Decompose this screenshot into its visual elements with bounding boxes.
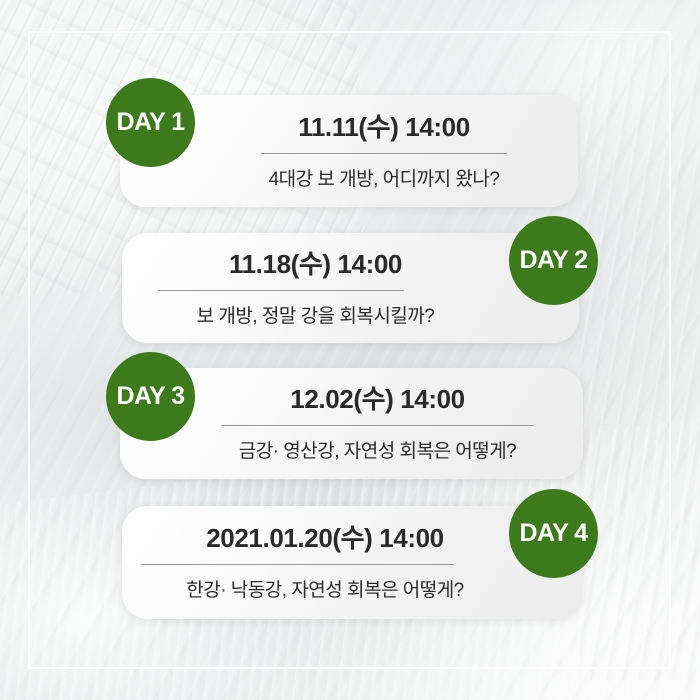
day-badge-label: DAY 2 bbox=[520, 248, 588, 273]
day-badge-1[interactable]: DAY 1 bbox=[106, 78, 195, 167]
day-badge-label: DAY 4 bbox=[520, 521, 588, 546]
session-date: 11.11(수) 14:00 bbox=[298, 114, 470, 140]
session-date: 12.02(수) 14:00 bbox=[290, 386, 464, 412]
poster-canvas: 11.11(수) 14:00 4대강 보 개방, 어디까지 왔나? DAY 1 … bbox=[0, 0, 700, 700]
card-divider bbox=[221, 425, 534, 426]
card-divider bbox=[261, 153, 507, 154]
day-badge-label: DAY 1 bbox=[117, 110, 185, 135]
session-title: 금강· 영산강, 자연성 회복은 어떻게? bbox=[239, 442, 517, 461]
day-badge-4[interactable]: DAY 4 bbox=[509, 489, 598, 578]
session-date: 11.18(수) 14:00 bbox=[229, 251, 402, 277]
day-badge-3[interactable]: DAY 3 bbox=[106, 352, 195, 441]
session-title: 한강· 낙동강, 자연성 회복은 어떻게? bbox=[186, 581, 464, 600]
day-badge-label: DAY 3 bbox=[117, 384, 185, 409]
session-title: 4대강 보 개방, 어디까지 왔나? bbox=[269, 170, 500, 189]
session-date: 2021.01.20(수) 14:00 bbox=[206, 525, 444, 551]
card-divider bbox=[141, 564, 454, 565]
session-title: 보 개방, 정말 강을 회복시킬까? bbox=[197, 307, 435, 326]
day-badge-2[interactable]: DAY 2 bbox=[509, 216, 598, 305]
card-divider bbox=[158, 290, 404, 291]
